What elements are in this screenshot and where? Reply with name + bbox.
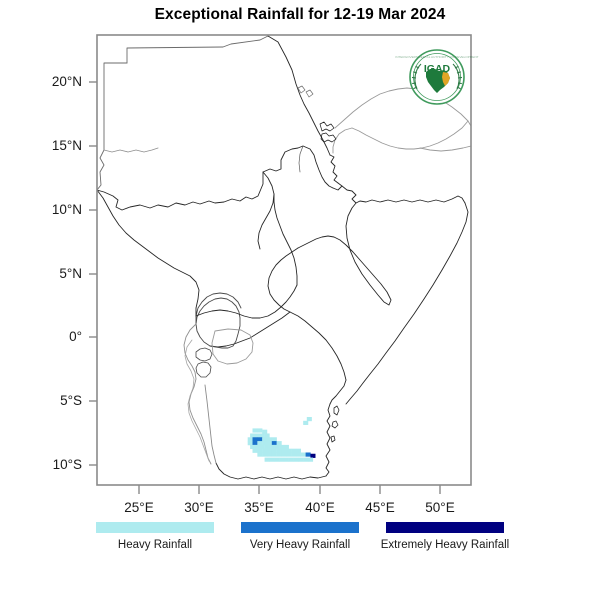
rainfall-cell (250, 445, 255, 449)
rainfall-cell (253, 449, 258, 453)
rainfall-cell (257, 437, 262, 441)
plot-background (97, 35, 471, 485)
rainfall-cell (260, 445, 265, 449)
y-tick-label: 15°N (20, 138, 82, 153)
rainfall-cell (274, 445, 279, 449)
rainfall-cell (262, 452, 267, 456)
y-tick-label: 5°N (20, 266, 82, 281)
rainfall-cell (253, 428, 258, 432)
rainfall-cell (272, 449, 277, 453)
rainfall-cell (277, 449, 282, 453)
y-tick-label: 20°N (20, 74, 82, 89)
rainfall-cell (267, 452, 272, 456)
igad-ring-text: INTERGOVERNMENTAL AUTHORITY ON DEVELOPME… (395, 55, 478, 59)
rainfall-cell (296, 452, 301, 456)
rainfall-cell (303, 421, 308, 425)
rainfall-cell (272, 437, 277, 441)
rainfall-cell (257, 441, 262, 445)
x-tick-label: 50°E (410, 500, 470, 515)
rainfall-cell (262, 449, 267, 453)
x-tick-label: 40°E (290, 500, 350, 515)
rainfall-cell (257, 428, 262, 432)
rainfall-cell (291, 452, 296, 456)
legend-item-heavy: Heavy Rainfall (83, 522, 228, 551)
rainfall-cell (272, 441, 277, 445)
rainfall-cell (267, 449, 272, 453)
rainfall-cell (296, 449, 301, 453)
rainfall-cell (248, 437, 253, 441)
rainfall-cell (286, 449, 291, 453)
rainfall-cell (284, 445, 289, 449)
rainfall-cell (267, 441, 272, 445)
rainfall-cell (255, 433, 260, 437)
legend-label-heavy: Heavy Rainfall (118, 539, 192, 551)
rainfall-cell (306, 452, 311, 456)
rainfall-cell (262, 437, 267, 441)
legend-item-extremely-heavy: Extremely Heavy Rainfall (373, 522, 518, 551)
rainfall-cell (308, 458, 313, 462)
igad-wordmark: IGAD (424, 63, 451, 75)
rainfall-cell (277, 441, 282, 445)
rainfall-cell (269, 445, 274, 449)
rainfall-cell (253, 441, 258, 445)
legend-swatch-extremely-heavy (386, 522, 504, 533)
legend-label-very-heavy: Very Heavy Rainfall (250, 539, 350, 551)
rainfall-cell (248, 441, 253, 445)
rainfall-cell (301, 452, 306, 456)
rainfall-cell (277, 452, 282, 456)
rainfall-cell (294, 458, 299, 462)
y-tick-label: 0° (20, 329, 82, 344)
rainfall-cell (262, 430, 267, 434)
rainfall-cell (272, 452, 277, 456)
rainfall-cell (269, 458, 274, 462)
legend-item-very-heavy: Very Heavy Rainfall (228, 522, 373, 551)
legend-swatch-heavy (96, 522, 214, 533)
rainfall-cell (274, 458, 279, 462)
rainfall-cell (279, 445, 284, 449)
rainfall-cell (265, 433, 270, 437)
legend: Heavy Rainfall Very Heavy Rainfall Extre… (0, 522, 600, 551)
rainfall-cell (255, 445, 260, 449)
rainfall-cell (303, 458, 308, 462)
rainfall-cell (279, 458, 284, 462)
x-tick-label: 25°E (109, 500, 169, 515)
rainfall-cell (267, 437, 272, 441)
rainfall-cell (262, 441, 267, 445)
rainfall-cell (286, 452, 291, 456)
x-tick-label: 30°E (169, 500, 229, 515)
rainfall-cell (284, 458, 289, 462)
rainfall-cell (307, 417, 312, 421)
y-tick-label: 10°S (20, 457, 82, 472)
legend-swatch-very-heavy (241, 522, 359, 533)
y-tick-label: 10°N (20, 202, 82, 217)
legend-label-extremely-heavy: Extremely Heavy Rainfall (381, 539, 509, 551)
rainfall-cell (260, 433, 265, 437)
svg-text:INTERGOVERNMENTAL AUTHORITY ON: INTERGOVERNMENTAL AUTHORITY ON DEVELOPME… (395, 55, 478, 59)
rainfall-cell (265, 445, 270, 449)
rainfall-cell (265, 458, 270, 462)
rainfall-cell (291, 449, 296, 453)
rainfall-cell (250, 433, 255, 437)
x-tick-label: 45°E (350, 500, 410, 515)
rainfall-cell (281, 452, 286, 456)
x-tick-label: 35°E (229, 500, 289, 515)
y-tick-label: 5°S (20, 393, 82, 408)
rainfall-cell (298, 458, 303, 462)
rainfall-cell (289, 458, 294, 462)
rainfall-cell (281, 449, 286, 453)
rainfall-cell (310, 454, 315, 458)
rainfall-cell (257, 449, 262, 453)
rainfall-cell (253, 437, 258, 441)
rainfall-cell (257, 452, 262, 456)
